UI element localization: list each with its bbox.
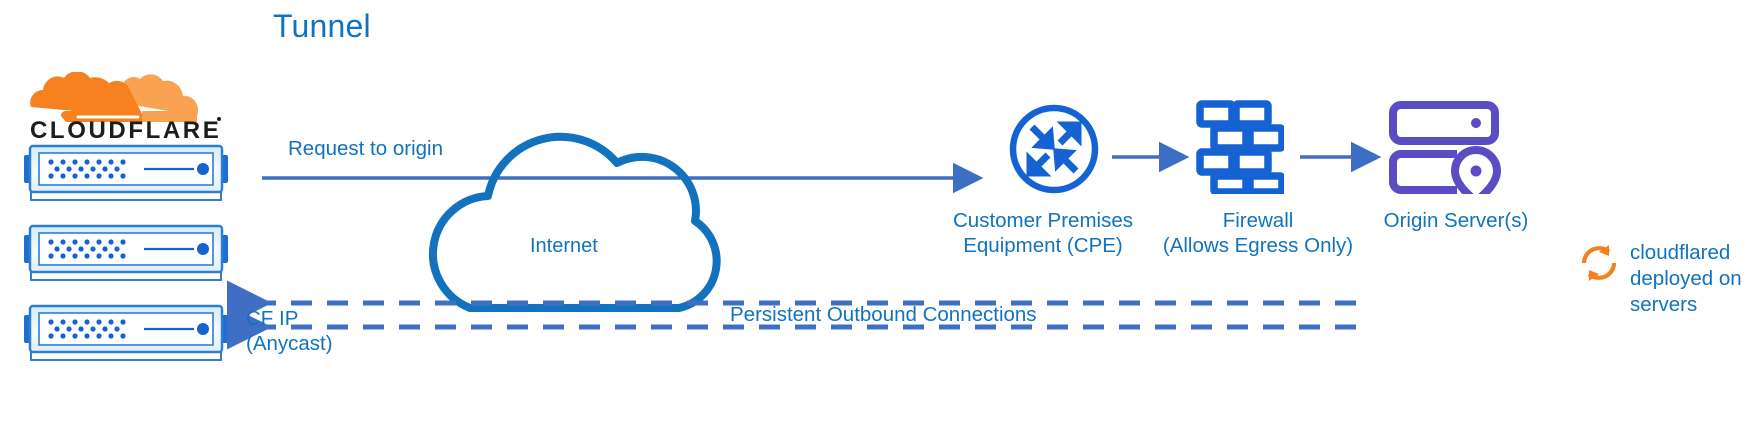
sync-arrows-icon — [1578, 242, 1620, 284]
origin-servers-text: Origin Server(s) — [1376, 208, 1536, 233]
brick-wall-icon — [1196, 100, 1284, 194]
cloudflare-edge-device-2 — [22, 223, 230, 285]
device-status-dot — [197, 323, 209, 335]
request-to-origin-label: Request to origin — [288, 136, 443, 161]
server-rack-pin-icon — [1388, 100, 1508, 194]
server-led-upper — [1471, 118, 1481, 128]
page-title: Tunnel — [273, 8, 371, 45]
persistent-outbound-connections-label: Persistent Outbound Connections — [730, 302, 1037, 327]
cloudflare-edge-device-3 — [22, 303, 230, 365]
cloudflare-wordmark: CLOUDFLARE — [30, 117, 221, 140]
cf-ip-anycast-label: CF IP (Anycast) — [246, 306, 406, 356]
internet-cloud-icon — [433, 137, 717, 308]
firewall-label-line1: Firewall — [1162, 208, 1354, 233]
tunnel-architecture-diagram: Tunnel CLOUDFLARE — [0, 0, 1754, 422]
cf-ip-line1: CF IP — [246, 306, 406, 331]
cloudflare-edge-device-1 — [22, 143, 230, 205]
internet-label: Internet — [530, 234, 598, 259]
firewall-label: Firewall (Allows Egress Only) — [1162, 208, 1354, 258]
cloudflared-deployed-label: cloudflared deployed on servers — [1630, 240, 1754, 318]
cloudflare-cloud-mark — [30, 72, 198, 122]
registered-trademark-icon — [217, 117, 221, 121]
device-status-dot — [197, 163, 209, 175]
cpe-label-line2: Equipment (CPE) — [948, 233, 1138, 258]
cf-ip-line2: (Anycast) — [246, 331, 406, 356]
device-status-dot — [197, 243, 209, 255]
cpe-label-line1: Customer Premises — [948, 208, 1138, 233]
cpe-label: Customer Premises Equipment (CPE) — [948, 208, 1138, 258]
arrows-converge-circle-icon — [1008, 103, 1100, 195]
origin-servers-label: Origin Server(s) — [1376, 208, 1536, 233]
cloudflare-logo: CLOUDFLARE — [30, 72, 222, 140]
firewall-label-line2: (Allows Egress Only) — [1162, 233, 1354, 258]
